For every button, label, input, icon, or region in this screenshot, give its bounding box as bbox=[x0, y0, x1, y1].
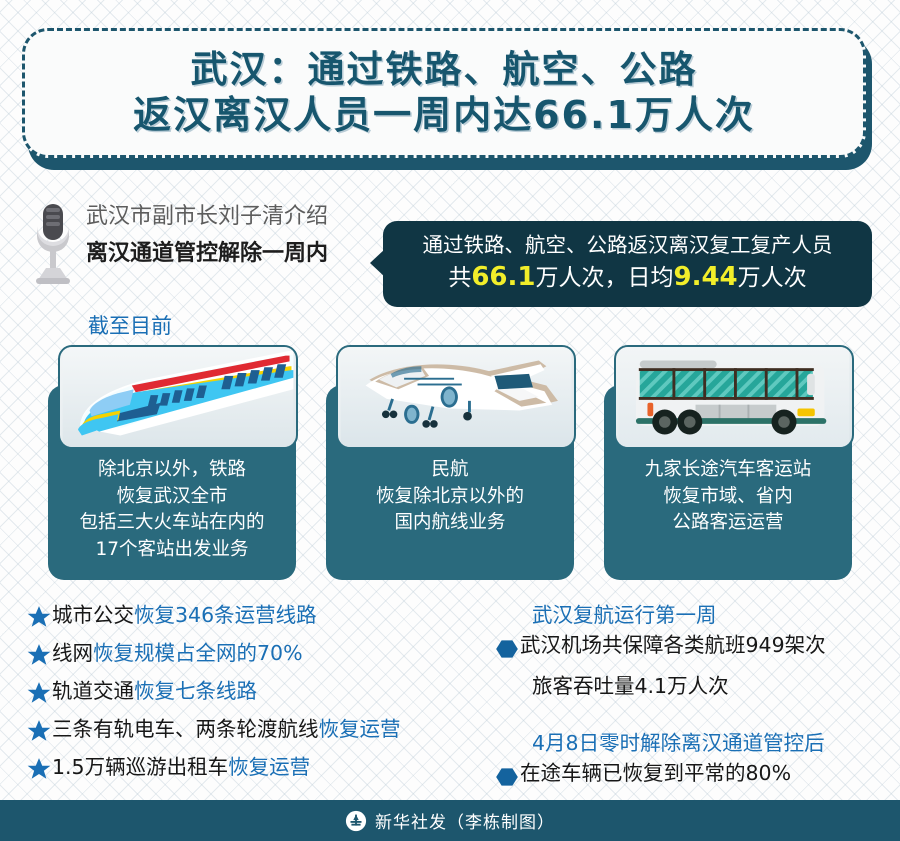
star-bullet-icon bbox=[26, 756, 52, 782]
card-highway-line-3: 公路客运运营 bbox=[610, 510, 846, 537]
star-bullet-icon bbox=[26, 718, 52, 744]
card-railway-line-3: 包括三大火车站在内的 bbox=[54, 510, 290, 537]
list-item: 城市公交恢复346条运营线路 bbox=[26, 603, 496, 630]
list-item-highlight: 恢复346条运营线路 bbox=[134, 603, 317, 627]
quote-bubble: 通过铁路、航空、公路返汉离汉复工复产人员 共66.1万人次，日均9.44万人次 bbox=[383, 221, 872, 307]
footer-credit-text: 新华社发（李栋制图） bbox=[375, 808, 555, 833]
right-group-2: 4月8日零时解除离汉通道管控后 在途车辆已恢复到平常的80% bbox=[494, 726, 894, 790]
quote-middle: 万人次，日均 bbox=[536, 265, 674, 291]
card-railway: 除北京以外，铁路 恢复武汉全市 包括三大火车站在内的 17个客站出发业务 bbox=[48, 385, 296, 580]
list-item-plain: 三条有轨电车、两条轮渡航线 bbox=[52, 717, 319, 741]
list-item-plain: 城市公交 bbox=[52, 603, 134, 627]
card-highway: 九家长途汽车客运站 恢复市域、省内 公路客运运营 bbox=[604, 385, 852, 580]
list-item-highlight: 恢复运营 bbox=[228, 755, 310, 779]
card-aviation-line-1: 民航 bbox=[332, 457, 568, 484]
list-item: 线网恢复规模占全网的70% bbox=[26, 641, 496, 668]
list-item-text: 轨道交通恢复七条线路 bbox=[52, 679, 257, 704]
hexagon-bullet-icon bbox=[494, 764, 520, 790]
speaker-block: 武汉市副市长刘子清介绍 离汉通道管控解除一周内 bbox=[26, 196, 386, 288]
speaker-text-group: 武汉市副市长刘子清介绍 离汉通道管控解除一周内 bbox=[86, 196, 328, 270]
list-item-highlight: 恢复运营 bbox=[319, 717, 401, 741]
hexagon-bullet-icon bbox=[494, 636, 520, 662]
list-item-plain: 轨道交通 bbox=[52, 679, 134, 703]
right-list-spacer bbox=[494, 700, 894, 726]
right-group-1: 武汉复航运行第一周 武汉机场共保障各类航班949架次 旅客吞吐量4.1万人次 bbox=[494, 598, 894, 700]
list-item: 武汉机场共保障各类航班949架次 bbox=[494, 633, 894, 662]
infographic-page: 武汉：通过铁路、航空、公路 返汉离汉人员一周内达66.1万人次 武汉市副市长刘子… bbox=[0, 0, 900, 841]
quote-number-daily: 9.44 bbox=[674, 262, 738, 292]
title-line-1: 武汉：通过铁路、航空、公路 bbox=[191, 47, 698, 92]
right-group-1-heading: 武汉复航运行第一周 bbox=[532, 598, 894, 628]
quote-line-2: 共66.1万人次，日均9.44万人次 bbox=[448, 261, 806, 295]
list-item-text: 武汉机场共保障各类航班949架次 bbox=[520, 633, 826, 658]
footer-bar: 新华社发（李栋制图） bbox=[0, 800, 900, 841]
speaker-intro-line: 武汉市副市长刘子清介绍 bbox=[86, 200, 328, 233]
list-item-plain: 1.5万辆巡游出租车 bbox=[52, 755, 228, 779]
title-box: 武汉：通过铁路、航空、公路 返汉离汉人员一周内达66.1万人次 bbox=[22, 28, 866, 158]
airplane-icon bbox=[338, 347, 574, 447]
list-item-highlight: 恢复规模占全网的70% bbox=[93, 641, 303, 665]
coach-bus-icon bbox=[616, 347, 852, 447]
list-item-highlight: 恢复七条线路 bbox=[134, 679, 257, 703]
list-item-plain: 线网 bbox=[52, 641, 93, 665]
card-aviation: 民航 恢复除北京以外的 国内航线业务 bbox=[326, 385, 574, 580]
card-railway-line-2: 恢复武汉全市 bbox=[54, 484, 290, 511]
list-item-text: 在途车辆已恢复到平常的80% bbox=[520, 761, 791, 786]
list-item: 三条有轨电车、两条轮渡航线恢复运营 bbox=[26, 717, 496, 744]
quote-prefix: 共 bbox=[448, 265, 471, 291]
quote-number-total: 66.1 bbox=[471, 262, 535, 292]
high-speed-train-icon bbox=[60, 347, 296, 447]
right-group-1-subline: 旅客吞吐量4.1万人次 bbox=[532, 673, 894, 700]
star-bullet-icon bbox=[26, 604, 52, 630]
card-railway-line-4: 17个客站出发业务 bbox=[54, 537, 290, 564]
speaker-period-line: 离汉通道管控解除一周内 bbox=[86, 237, 328, 270]
left-bullet-list: 城市公交恢复346条运营线路 线网恢复规模占全网的70% 轨道交通恢复七条线路 … bbox=[26, 603, 496, 793]
card-railway-text: 除北京以外，铁路 恢复武汉全市 包括三大火车站在内的 17个客站出发业务 bbox=[54, 457, 290, 564]
star-bullet-icon bbox=[26, 680, 52, 706]
list-item: 在途车辆已恢复到平常的80% bbox=[494, 761, 894, 790]
card-highway-image bbox=[614, 345, 854, 449]
list-item-text: 线网恢复规模占全网的70% bbox=[52, 641, 303, 666]
list-item-text: 三条有轨电车、两条轮渡航线恢复运营 bbox=[52, 717, 401, 742]
microphone-icon bbox=[26, 198, 80, 288]
card-highway-line-1: 九家长途汽车客运站 bbox=[610, 457, 846, 484]
right-bullet-list: 武汉复航运行第一周 武汉机场共保障各类航班949架次 旅客吞吐量4.1万人次 4… bbox=[494, 598, 894, 801]
xinhua-logo-icon bbox=[345, 810, 367, 832]
title-line-2: 返汉离汉人员一周内达66.1万人次 bbox=[133, 92, 755, 138]
card-aviation-line-2: 恢复除北京以外的 bbox=[332, 484, 568, 511]
card-highway-line-2: 恢复市域、省内 bbox=[610, 484, 846, 511]
list-item: 1.5万辆巡游出租车恢复运营 bbox=[26, 755, 496, 782]
card-aviation-image bbox=[336, 345, 576, 449]
right-group-2-heading: 4月8日零时解除离汉通道管控后 bbox=[532, 726, 894, 756]
card-highway-text: 九家长途汽车客运站 恢复市域、省内 公路客运运营 bbox=[610, 457, 846, 537]
card-railway-line-1: 除北京以外，铁路 bbox=[54, 457, 290, 484]
as-of-label: 截至目前 bbox=[88, 310, 172, 340]
card-aviation-line-3: 国内航线业务 bbox=[332, 510, 568, 537]
quote-line-1: 通过铁路、航空、公路返汉离汉复工复产人员 bbox=[423, 233, 833, 259]
list-item: 轨道交通恢复七条线路 bbox=[26, 679, 496, 706]
card-aviation-text: 民航 恢复除北京以外的 国内航线业务 bbox=[332, 457, 568, 537]
list-item-text: 城市公交恢复346条运营线路 bbox=[52, 603, 317, 628]
card-railway-image bbox=[58, 345, 298, 449]
quote-suffix: 万人次 bbox=[738, 265, 807, 291]
star-bullet-icon bbox=[26, 642, 52, 668]
list-item-text: 1.5万辆巡游出租车恢复运营 bbox=[52, 755, 310, 780]
